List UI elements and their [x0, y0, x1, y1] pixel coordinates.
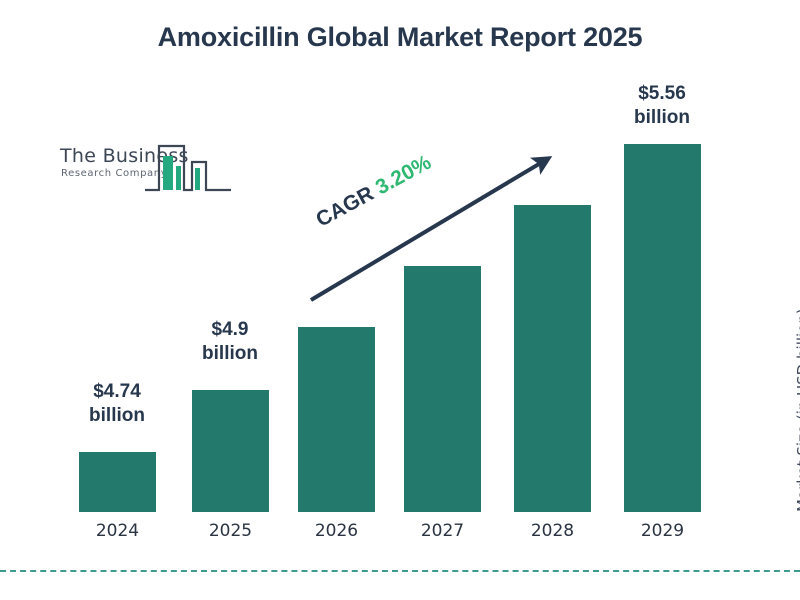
y-axis-title: Market Size (in USD billion) [794, 262, 800, 512]
footer-divider [0, 570, 800, 572]
bar-chart-plot-area: $4.74 billion $4.9 billion $5.56 billion… [0, 0, 800, 600]
growth-arrow-icon [0, 0, 800, 600]
chart-page: Amoxicillin Global Market Report 2025 Th… [0, 0, 800, 600]
